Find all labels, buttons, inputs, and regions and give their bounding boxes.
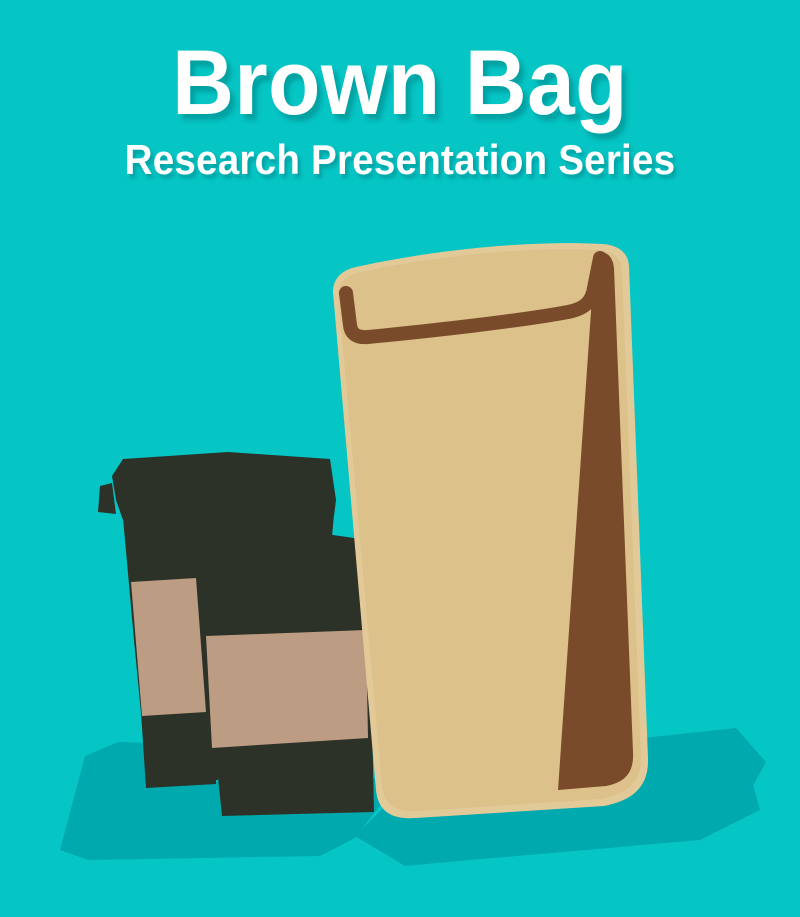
cup-back-lid <box>112 452 336 520</box>
cup-back-sleeve <box>131 578 206 716</box>
page-title: Brown Bag <box>28 0 772 128</box>
cup-front-sleeve <box>206 630 368 748</box>
poster-canvas: Brown Bag Research Presentation Series <box>0 0 800 917</box>
poster-headings: Brown Bag Research Presentation Series <box>0 0 800 182</box>
page-subtitle: Research Presentation Series <box>32 128 768 182</box>
cup-back-lid-tab <box>98 483 116 514</box>
paper-bag <box>333 243 648 818</box>
